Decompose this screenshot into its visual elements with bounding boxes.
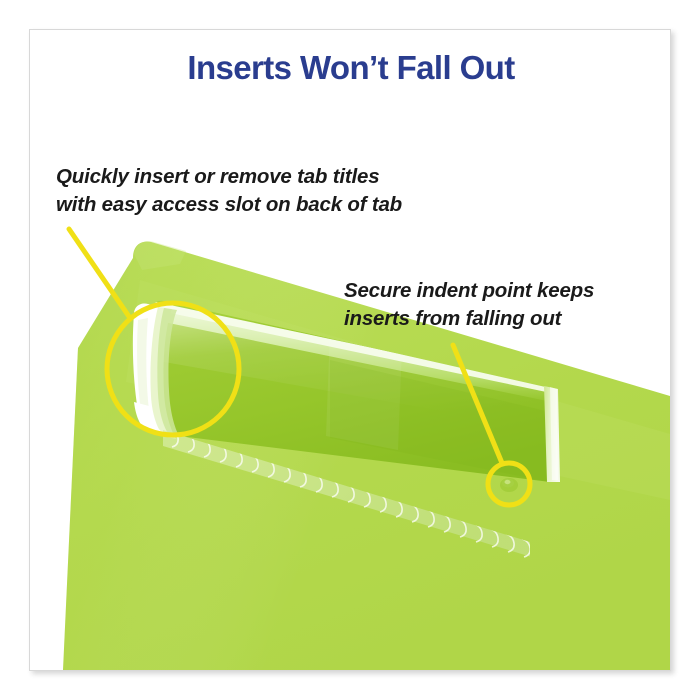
callout-marker-indent-point [453,345,530,505]
callout-marker-insert-slot [69,229,239,435]
callout-text-insert-slot: Quickly insert or remove tab titles with… [56,163,402,219]
callout-right-line-1: Secure indent point keeps [344,277,594,305]
callout-right-line-2: inserts from falling out [344,305,594,333]
product-feature-graphic: Inserts Won’t Fall Out Quickly insert or… [0,0,700,700]
callout-left-line-1: Quickly insert or remove tab titles [56,163,402,191]
callout-text-indent-point: Secure indent point keeps inserts from f… [344,277,594,333]
callout-leader-line-right [453,345,502,463]
callout-circle-right [488,463,530,505]
callout-markers-layer [30,30,670,670]
callout-circle-left [107,303,239,435]
image-frame: Inserts Won’t Fall Out Quickly insert or… [29,29,671,671]
page-title: Inserts Won’t Fall Out [30,49,671,87]
callout-leader-line-left [69,229,130,318]
callout-left-line-2: with easy access slot on back of tab [56,191,402,219]
